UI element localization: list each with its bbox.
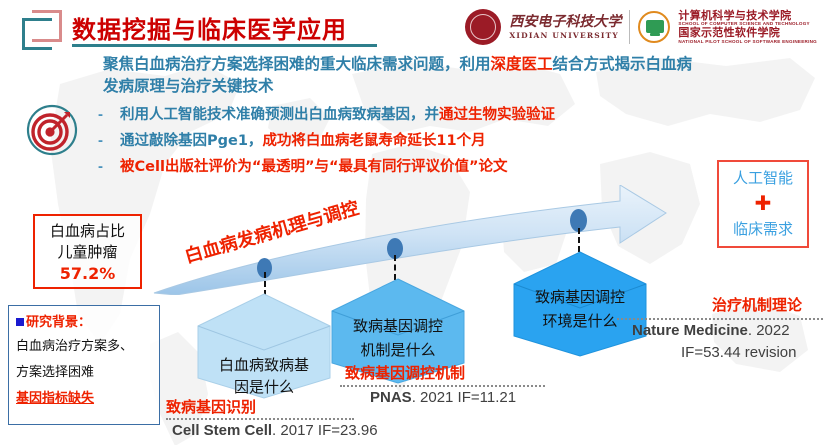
flow-step-1-dotted-rule <box>166 418 354 420</box>
flow-step-1-journal: Cell Stem Cell. 2017 IF=23.96 <box>172 422 378 439</box>
school-name-cn-1: 计算机科学与技术学院 <box>678 10 817 22</box>
bullet-2-highlight: 成功将白血病老鼠寿命延长11个月 <box>262 133 485 149</box>
headline-line-2: 发病原理与治疗关键技术 <box>103 77 274 95</box>
university-name-en: XIDIAN UNIVERSITY <box>509 32 621 40</box>
background-header: 研究背景： <box>16 312 152 334</box>
flow-step-3-journal-name: Nature Medicine <box>632 322 748 339</box>
bullet-list: - 利用人工智能技术准确预测出白血病致病基因，并通过生物实验验证 - 通过敲除基… <box>98 103 758 181</box>
flow-step-3-caption: 治疗机制理论 <box>712 294 802 315</box>
flow-step-1-caption: 致病基因识别 <box>166 396 256 417</box>
university-name-cn: 西安电子科技大学 <box>509 15 621 29</box>
background-line-1: 白血病治疗方案多、 <box>16 334 152 360</box>
headline-part-1: 聚焦白血病治疗方案选择困难的重大临床需求问题，利用 <box>103 55 491 73</box>
xidian-seal-icon <box>465 9 501 45</box>
flow-step-2-label-2: 机制是什么 <box>330 339 466 361</box>
stat-value: 57.2% <box>35 263 140 285</box>
bracket-icon <box>16 8 68 52</box>
school-name-cn-2: 国家示范性软件学院 <box>678 27 817 39</box>
bullet-dash: - <box>98 155 120 179</box>
target-icon <box>26 104 78 156</box>
page-title: 数据挖掘与临床医学应用 <box>72 10 347 45</box>
bullet-1-highlight: 通过生物实验验证 <box>439 107 555 123</box>
leukemia-ratio-box: 白血病占比 儿童肿瘤 57.2% <box>33 214 142 289</box>
flow-step-1-label-2: 因是什么 <box>196 376 332 398</box>
flow-step-3-journal-line-2: IF=53.44 revision <box>681 344 796 361</box>
flow-step-3-dotted-rule <box>617 318 823 320</box>
bullet-dash: - <box>98 103 120 127</box>
bullet-dash: - <box>98 129 120 153</box>
stat-line-2: 儿童肿瘤 <box>35 242 140 263</box>
list-item: - 利用人工智能技术准确预测出白血病致病基因，并通过生物实验验证 <box>98 103 758 129</box>
flow-step-1-label-1: 白血病致病基 <box>196 354 332 376</box>
school-emblem-icon <box>638 11 670 43</box>
bullet-text-3: 被Cell出版社评价为“最透明”与“最具有同行评议价值”论文 <box>120 155 508 179</box>
bullet-3-highlight: 被Cell出版社评价为“最透明”与“最具有同行评议价值”论文 <box>120 159 508 175</box>
research-background-box: 研究背景： 白血病治疗方案多、 方案选择困难 基因指标缺失 <box>8 305 160 425</box>
background-line-2: 方案选择困难 <box>16 360 152 386</box>
flow-step-3-label-2: 环境是什么 <box>512 310 648 332</box>
list-item: - 被Cell出版社评价为“最透明”与“最具有同行评议价值”论文 <box>98 155 758 181</box>
bullet-2-plain: 通过敲除基因Pge1， <box>120 133 262 149</box>
headline-highlight: 深度医工 <box>491 55 553 73</box>
flow-step-2-journal-meta: . 2021 IF=11.21 <box>412 389 516 406</box>
flow-step-1-journal-meta: . 2017 IF=23.96 <box>272 422 378 439</box>
logo-group: 西安电子科技大学 XIDIAN UNIVERSITY 计算机科学与技术学院 SC… <box>465 6 817 48</box>
headline: 聚焦白血病治疗方案选择困难的重大临床需求问题，利用深度医工结合方式揭示白血病 发… <box>103 53 743 98</box>
background-header-label: 研究背景： <box>26 315 91 330</box>
flow-step-2-dotted-rule <box>340 385 545 387</box>
flow-step-1-hexagon[interactable]: 白血病致病基 因是什么 <box>196 292 332 400</box>
flow-step-2-caption: 致病基因调控机制 <box>345 362 465 383</box>
stat-line-1: 白血病占比 <box>35 221 140 242</box>
title-underline <box>72 44 377 47</box>
logo-divider <box>629 10 630 44</box>
flow-step-2-label-1: 致病基因调控 <box>330 315 466 337</box>
flow-step-3-journal: Nature Medicine. 2022 <box>632 322 790 339</box>
flow-step-3-journal-meta: . 2022 <box>748 322 790 339</box>
list-item: - 通过敲除基因Pge1，成功将白血病老鼠寿命延长11个月 <box>98 129 758 155</box>
headline-part-2: 结合方式揭示白血病 <box>553 55 693 73</box>
slide-canvas: 数据挖掘与临床医学应用 西安电子科技大学 XIDIAN UNIVERSITY 计… <box>0 0 827 445</box>
flow-step-2-journal: PNAS. 2021 IF=11.21 <box>370 389 516 406</box>
flow-step-2-journal-name: PNAS <box>370 389 412 406</box>
square-bullet-icon <box>16 318 24 326</box>
school-name-en-2: NATIONAL PILOT SCHOOL OF SOFTWARE ENGINE… <box>678 40 817 45</box>
flow-step-3-label-1: 致病基因调控 <box>512 286 648 308</box>
background-line-3: 基因指标缺失 <box>16 386 152 412</box>
bullet-text-1: 利用人工智能技术准确预测出白血病致病基因，并通过生物实验验证 <box>120 103 555 127</box>
xidian-name-block: 西安电子科技大学 XIDIAN UNIVERSITY <box>509 15 621 40</box>
bullet-1-plain: 利用人工智能技术准确预测出白血病致病基因，并 <box>120 107 439 123</box>
flow-step-3-hexagon[interactable]: 致病基因调控 环境是什么 <box>512 250 648 358</box>
school-name-block: 计算机科学与技术学院 SCHOOL OF COMPUTER SCIENCE AN… <box>678 10 817 45</box>
bullet-text-2: 通过敲除基因Pge1，成功将白血病老鼠寿命延长11个月 <box>120 129 486 153</box>
flow-step-1-journal-name: Cell Stem Cell <box>172 422 272 439</box>
